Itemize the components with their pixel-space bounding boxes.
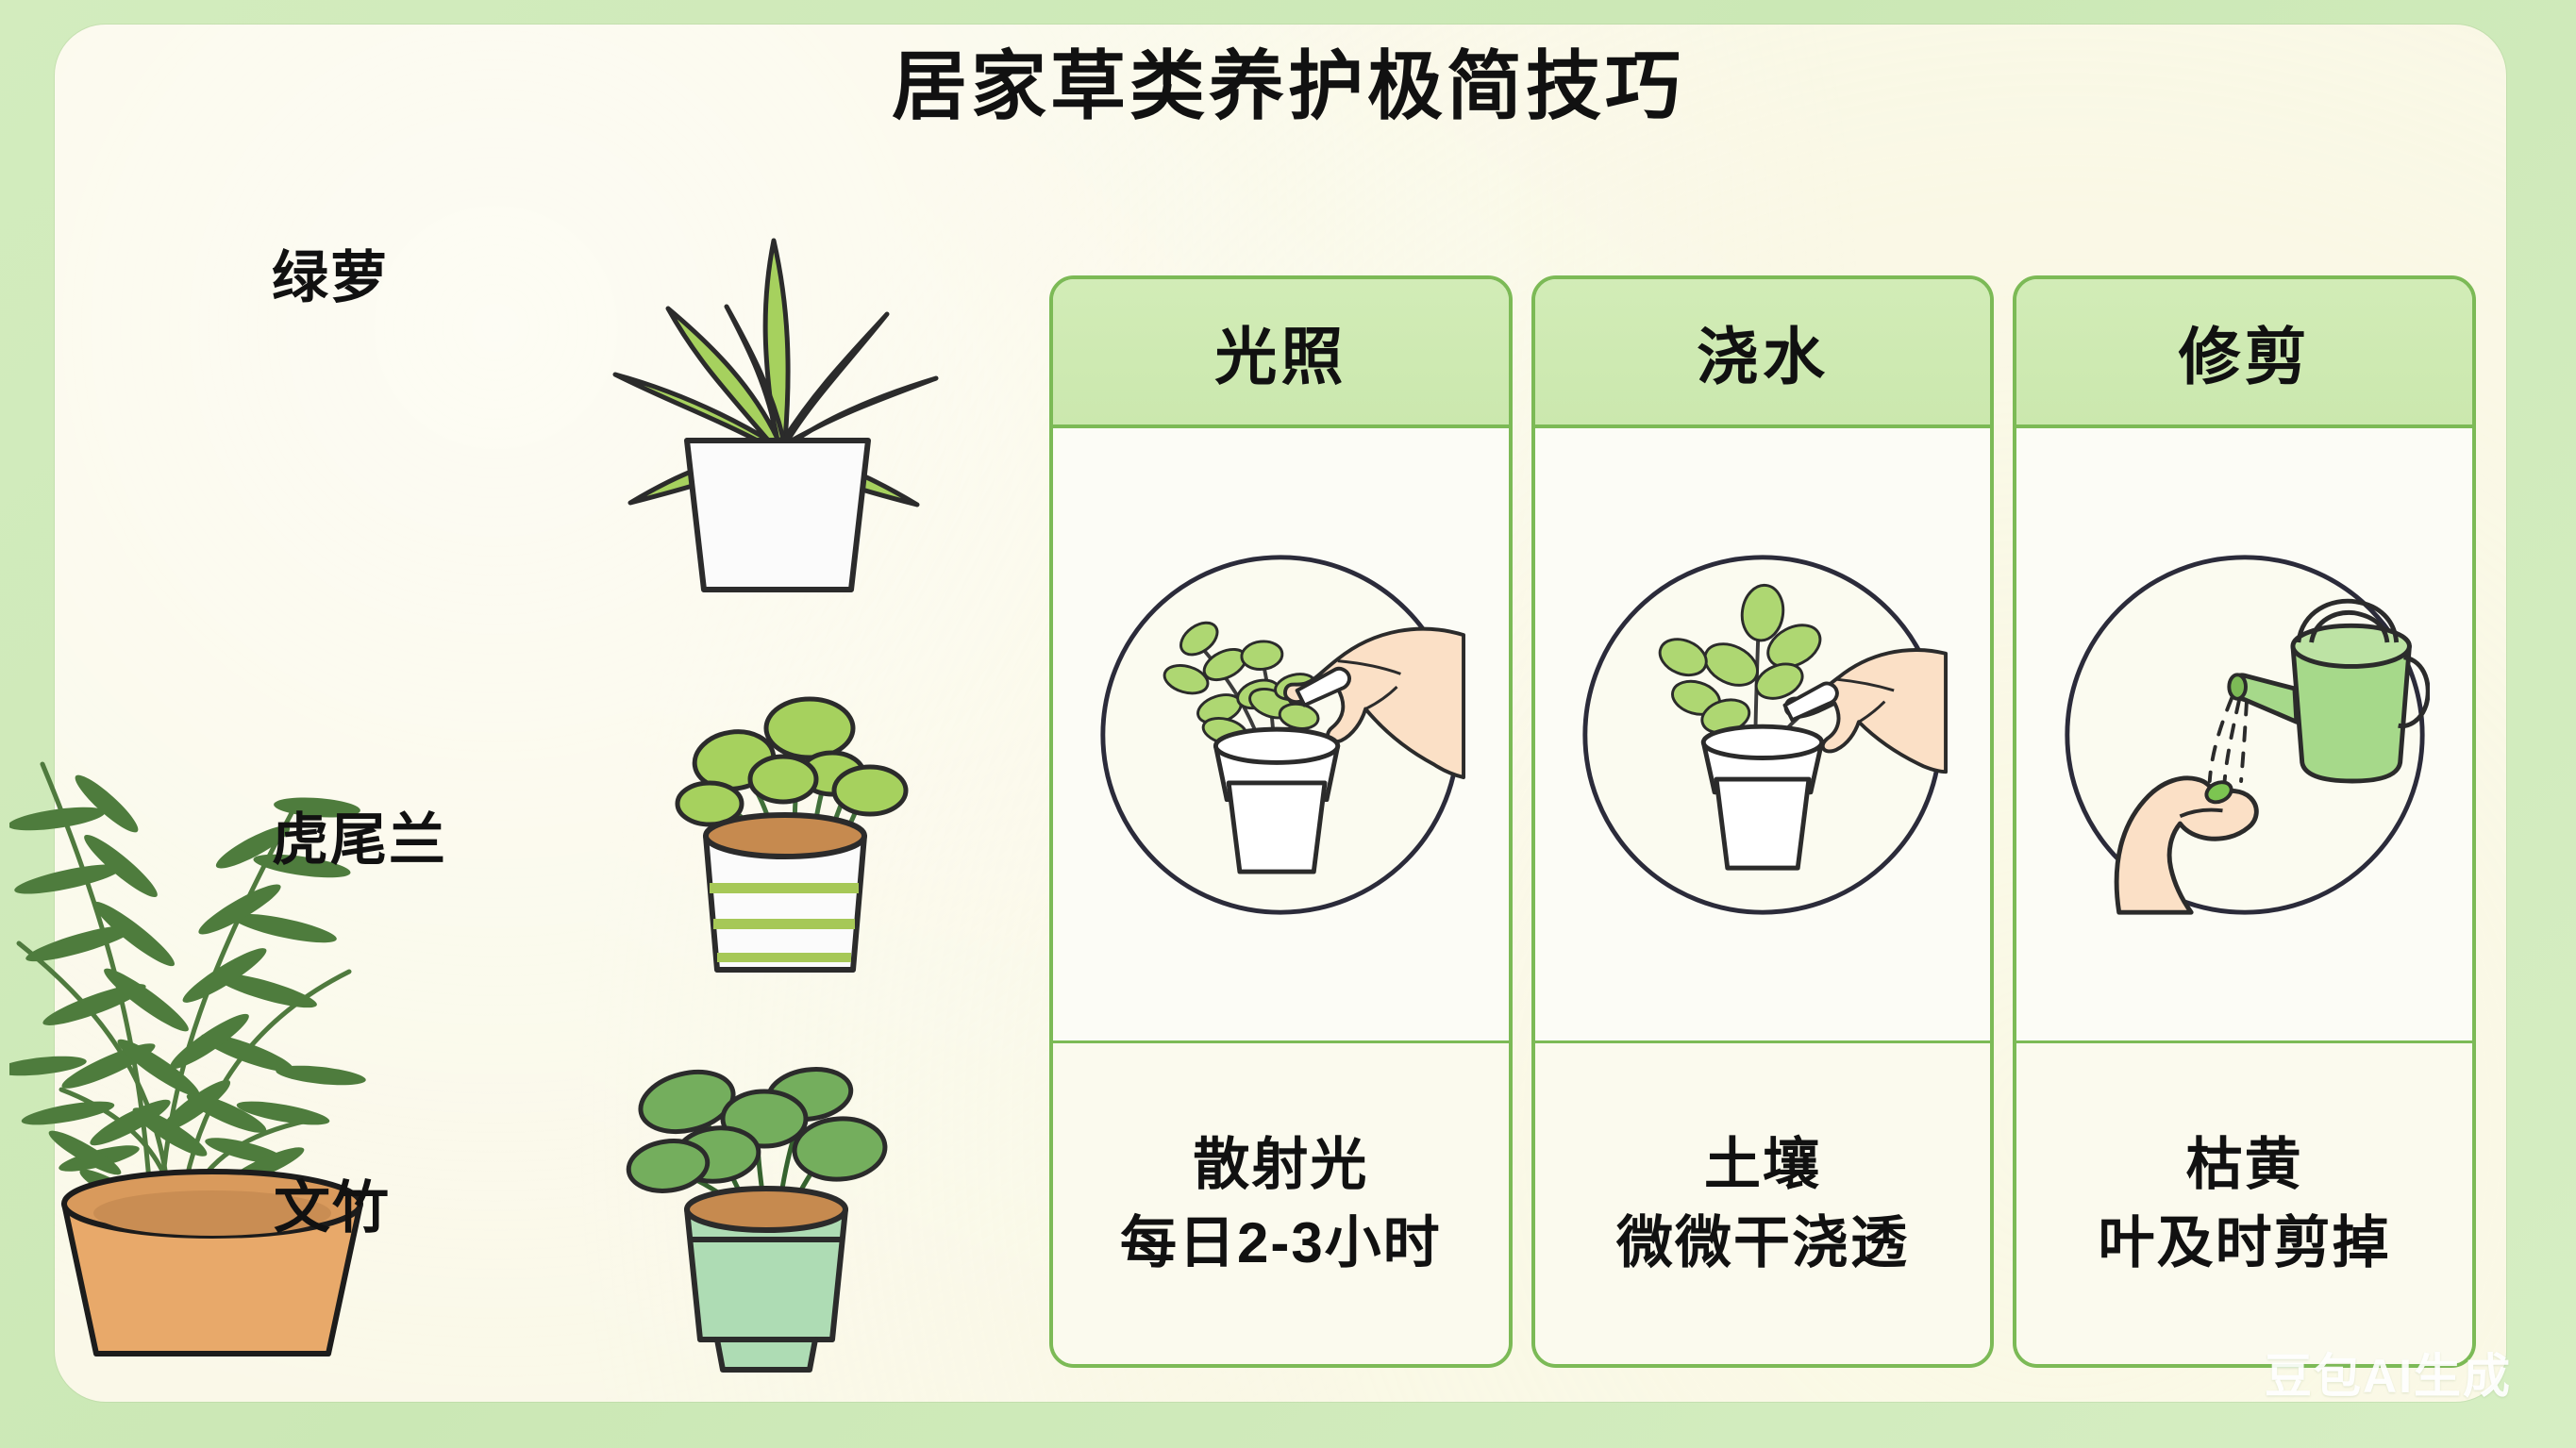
card-water-line-1: 微微干浇透: [1616, 1210, 1909, 1275]
infographic-stage: 居家草类养护极简技巧: [0, 0, 2576, 1448]
card-water-title: 浇水: [1697, 307, 1829, 397]
card-light[interactable]: 光照: [1049, 275, 1513, 1368]
card-prune-title: 修剪: [2179, 307, 2311, 397]
card-prune-line-0: 枯黄: [2186, 1132, 2303, 1197]
page-title: 居家草类养护极简技巧: [0, 49, 2576, 125]
plant-label-1: 虎尾兰: [272, 794, 447, 876]
mint-pot: [687, 1189, 845, 1370]
plant-label-2: 文竹: [274, 1162, 391, 1244]
care-cards: 光照: [1049, 275, 2476, 1368]
card-light-body: [1053, 428, 1509, 1040]
card-prune[interactable]: 修剪: [2013, 275, 2476, 1368]
plant-item-2: [613, 1028, 972, 1387]
card-light-footer: 散射光 每日2-3小时: [1053, 1040, 1509, 1364]
plant-label-0: 绿萝: [272, 232, 389, 314]
plant-with-hand-dropper-icon: [1578, 550, 1948, 920]
watermark: 豆包AI生成: [2265, 1339, 2512, 1406]
pilea-mint-pot-icon: [613, 1028, 972, 1387]
plant-item-0: [576, 203, 972, 608]
card-prune-header: 修剪: [2016, 279, 2472, 428]
card-water-header: 浇水: [1535, 279, 1991, 428]
card-prune-footer: 枯黄 叶及时剪掉: [2016, 1040, 2472, 1364]
card-light-line-0: 散射光: [1193, 1132, 1368, 1197]
card-water-body: [1535, 428, 1991, 1040]
plant-item-1: [651, 641, 991, 990]
card-light-title: 光照: [1214, 307, 1347, 397]
card-prune-body: [2016, 428, 2472, 1040]
spider-plant-white-pot-icon: [576, 203, 972, 608]
card-light-header: 光照: [1053, 279, 1509, 428]
plant-with-hand-tool-icon: [1096, 550, 1465, 920]
card-water-footer: 土壤 微微干浇透: [1535, 1040, 1991, 1364]
card-prune-line-1: 叶及时剪掉: [2099, 1210, 2391, 1275]
white-pot: [687, 441, 868, 590]
watering-can-over-hand-icon: [2060, 550, 2430, 920]
striped-pot: [706, 815, 864, 970]
card-water[interactable]: 浇水: [1531, 275, 1995, 1368]
card-water-line-0: 土壤: [1704, 1132, 1821, 1197]
pilea-striped-pot-icon: [651, 641, 991, 990]
card-light-line-1: 每日2-3小时: [1120, 1210, 1442, 1275]
